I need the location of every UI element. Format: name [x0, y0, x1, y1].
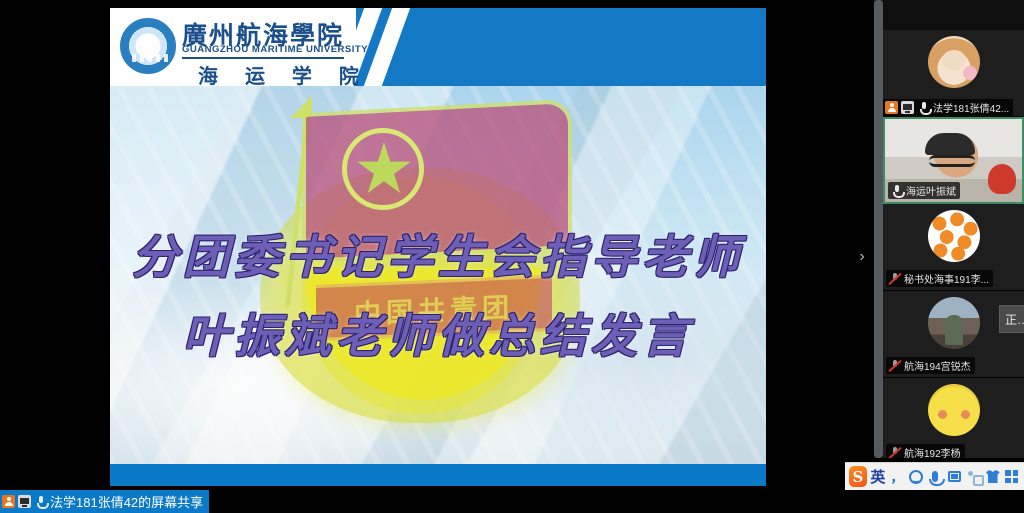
header-divider	[182, 57, 344, 59]
crest-wave-icon	[132, 54, 168, 62]
college-name-cn: 海 运 学 院	[198, 60, 369, 89]
glasses-icon	[929, 155, 975, 167]
microphone-icon	[34, 495, 47, 508]
slide-footer-band	[110, 464, 766, 486]
soft-keyboard-icon[interactable]	[946, 466, 962, 487]
screen-share-icon	[18, 495, 31, 508]
street-photo-avatar	[928, 297, 980, 349]
voice-input-icon[interactable]	[927, 466, 943, 487]
screen-sharing-window: 廣州航海學院 GUANGZHOU MARITIME UNIVERSITY 海 运…	[0, 0, 1024, 513]
screen-share-label: 法学181张倩42的屏幕共享	[50, 492, 203, 511]
screen-share-banner[interactable]: 法学181张倩42的屏幕共享	[0, 490, 209, 513]
panel-collapse-chevron-right-icon[interactable]: ›	[855, 240, 869, 274]
slide-title-line-1: 分团委书记学生会指导老师	[110, 221, 766, 287]
university-crest-icon	[120, 18, 176, 74]
participant-name: 法学181张倩42...	[933, 100, 1009, 115]
participant-label: 航海194宫锐杰	[886, 357, 975, 374]
presentation-slide: 廣州航海學院 GUANGZHOU MARITIME UNIVERSITY 海 运…	[110, 8, 766, 486]
sogou-logo-icon[interactable]: S	[849, 466, 867, 487]
participant-name: 航海194宫锐杰	[904, 358, 971, 373]
participant-label: 法学181张倩42...	[883, 99, 1013, 116]
university-name-en: GUANGZHOU MARITIME UNIVERSITY	[182, 44, 368, 55]
participant-panel-scrollbar[interactable]	[874, 0, 883, 458]
participant-name: 海运叶振斌	[906, 183, 956, 198]
participant-name: 航海192李杨	[904, 445, 961, 458]
microphone-muted-icon	[888, 272, 901, 285]
app-grid-icon[interactable]	[1004, 466, 1020, 487]
sogou-ime-toolbar[interactable]: S 英 ，	[845, 462, 1024, 490]
participant-panel-scrollbar-thumb[interactable]	[874, 0, 883, 458]
host-icon	[885, 101, 898, 114]
microphone-muted-icon	[888, 359, 901, 372]
participant-tooltip: 正…	[999, 305, 1024, 333]
screenshot-tool-icon[interactable]	[966, 466, 982, 487]
participant-label: 海运叶振斌	[888, 182, 960, 199]
participant-label: 航海192李杨	[886, 444, 965, 458]
microphone-muted-icon	[888, 446, 901, 458]
participant-name: 秘书处海事191李...	[904, 271, 989, 286]
participant-tile[interactable]: 法学181张倩42...	[883, 30, 1024, 117]
screen-share-icon	[901, 101, 914, 114]
participant-panel[interactable]: 法学181张倩42... 海运叶振斌 秘书处海事191李... 航海194	[883, 0, 1024, 458]
input-mode-toggle[interactable]: 英	[870, 466, 886, 487]
orange-pattern-avatar	[928, 210, 980, 262]
pikachu-avatar	[928, 384, 980, 436]
bottom-bar: 法学181张倩42的屏幕共享	[0, 490, 1024, 513]
skin-picker-icon[interactable]	[985, 466, 1001, 487]
slide-title-line-2: 叶振斌老师做总结发言	[110, 300, 766, 366]
host-icon	[2, 495, 15, 508]
slide-header-band: 廣州航海學院 GUANGZHOU MARITIME UNIVERSITY 海 运…	[110, 8, 766, 86]
microphone-icon	[890, 184, 903, 197]
shared-screen-stage[interactable]: 廣州航海學院 GUANGZHOU MARITIME UNIVERSITY 海 运…	[0, 0, 866, 490]
participant-label: 秘书处海事191李...	[886, 270, 993, 287]
participant-tile[interactable]: 海运叶振斌	[883, 117, 1024, 204]
emoji-picker-icon[interactable]	[908, 466, 924, 487]
participant-tile[interactable]: 航海192李杨	[883, 378, 1024, 458]
microphone-icon	[917, 101, 930, 114]
dog-avatar	[928, 36, 980, 88]
punctuation-toggle[interactable]: ，	[889, 466, 905, 487]
participant-tile[interactable]: 秘书处海事191李...	[883, 204, 1024, 291]
